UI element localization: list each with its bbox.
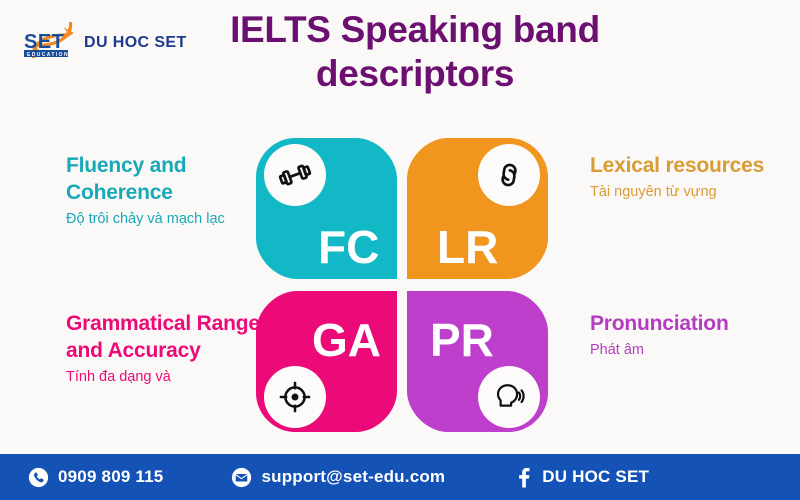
facebook-icon [513,466,533,488]
svg-text:SET: SET [24,31,64,53]
criteria-quadrant-diagram: FC LR GA PR [252,134,552,436]
page-title: IELTS Speaking band descriptors [150,8,680,96]
footer-phone[interactable]: 0909 809 115 [28,467,163,488]
criterion-label-pronunciation: Pronunciation Phát âm [590,310,795,361]
contact-footer-bar: 0909 809 115 support@set-edu.com DU HOC … [0,454,800,500]
criterion-title: Grammatical Range and Accuracy [66,310,261,364]
speaking-head-icon [478,366,540,428]
criterion-subtitle: Phát âm [590,339,795,361]
phone-icon [28,467,49,488]
link-icon [478,144,540,206]
set-education-logo: SET EDUCATION [16,14,88,66]
criterion-subtitle: Tính đa dạng và [66,366,261,388]
dumbbell-icon [264,144,326,206]
criterion-title: Lexical resources [590,152,790,179]
footer-facebook[interactable]: DU HOC SET [513,466,649,488]
criterion-subtitle: Độ trôi chảy và mạch lạc [66,208,261,230]
criterion-label-fluency-and-coherence: Fluency and Coherence Độ trôi chảy và mạ… [66,152,261,230]
criterion-subtitle: Tài nguyên từ vựng [590,181,790,203]
criterion-title: Fluency and Coherence [66,152,261,206]
envelope-icon [231,467,252,488]
criterion-title: Pronunciation [590,310,795,337]
svg-text:EDUCATION: EDUCATION [27,52,69,58]
criterion-label-grammatical-range-and-accuracy: Grammatical Range and Accuracy Tính đa d… [66,310,261,388]
criterion-label-lexical-resources: Lexical resources Tài nguyên từ vựng [590,152,790,203]
footer-email-text: support@set-edu.com [261,467,445,487]
target-icon [264,366,326,428]
infographic-canvas: SET EDUCATION DU HOC SET IELTS Speaking … [0,0,800,500]
footer-email[interactable]: support@set-edu.com [231,467,445,488]
footer-facebook-text: DU HOC SET [542,467,649,487]
footer-phone-text: 0909 809 115 [58,467,163,487]
